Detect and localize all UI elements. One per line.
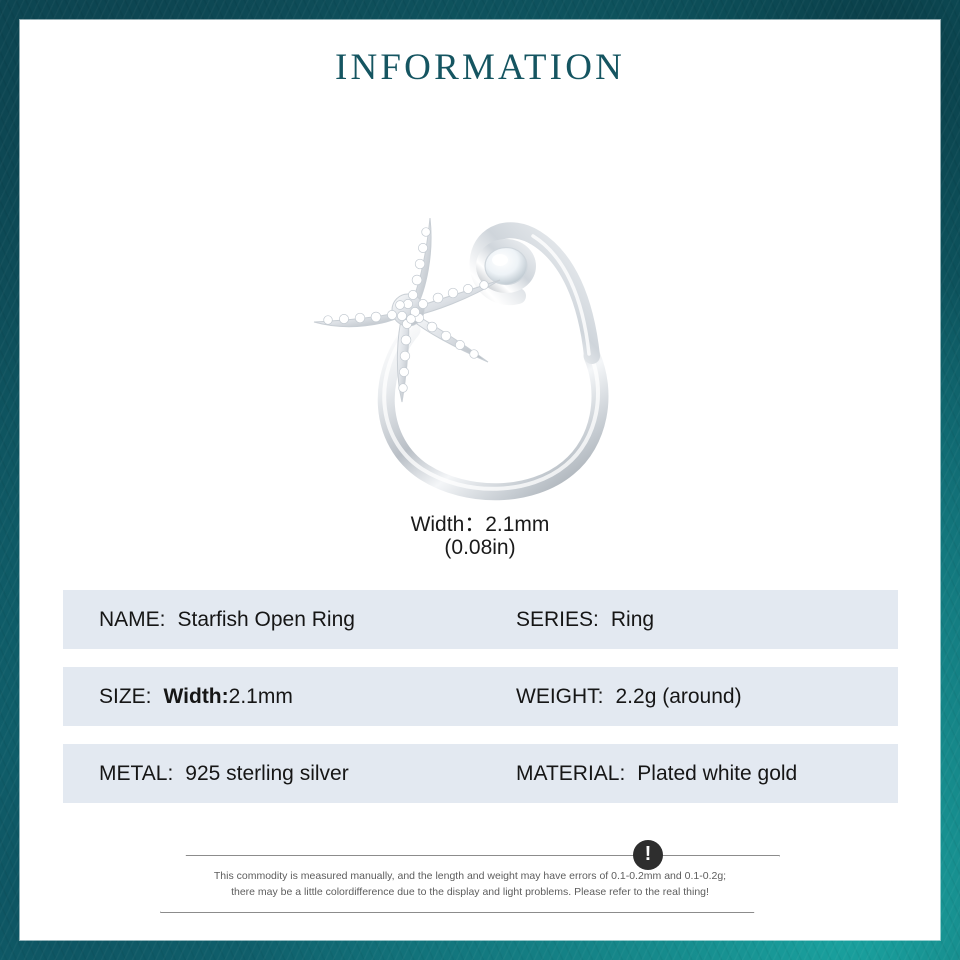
table-row: SIZE: Width:2.1mm WEIGHT: 2.2g (around) (63, 667, 898, 726)
spec-metal: METAL: 925 sterling silver (99, 762, 349, 786)
spec-label: SERIES: (516, 608, 599, 632)
spec-weight: WEIGHT: 2.2g (around) (516, 685, 742, 709)
disclaimer-line-2: there may be a little colordifference du… (231, 884, 709, 900)
spec-size: SIZE: Width:2.1mm (99, 685, 293, 709)
spec-value: 2.2g (around) (616, 685, 742, 709)
spec-series: SERIES: Ring (516, 608, 654, 632)
spec-value: Width:2.1mm (164, 685, 293, 709)
exclamation-icon: ! (633, 840, 663, 870)
white-content-panel: INFORMATION (20, 20, 940, 940)
spec-name: NAME: Starfish Open Ring (99, 608, 355, 632)
spec-label: MATERIAL: (516, 762, 625, 786)
spec-value: Plated white gold (637, 762, 797, 786)
page-title: INFORMATION (20, 46, 940, 89)
spec-value: Starfish Open Ring (178, 608, 355, 632)
exclamation-glyph: ! (645, 844, 652, 864)
specification-table: NAME: Starfish Open Ring SERIES: Ring SI… (63, 590, 898, 821)
spec-label: WEIGHT: (516, 685, 604, 709)
dimension-width: Width：2.1mm (20, 508, 940, 538)
dimension-width-inches: (0.08in) (20, 536, 940, 560)
table-row: METAL: 925 sterling silver MATERIAL: Pla… (63, 744, 898, 803)
spec-value-text: 2.1mm (229, 685, 293, 708)
spec-value-emphasis: Width: (164, 685, 229, 708)
table-row: NAME: Starfish Open Ring SERIES: Ring (63, 590, 898, 649)
product-information-card: INFORMATION (0, 0, 960, 960)
spec-label: SIZE: (99, 685, 152, 709)
spec-material: MATERIAL: Plated white gold (516, 762, 797, 786)
spec-label: NAME: (99, 608, 166, 632)
disclaimer-text: This commodity is measured manually, and… (160, 855, 780, 913)
spec-label: METAL: (99, 762, 173, 786)
disclaimer-line-1: This commodity is measured manually, and… (214, 868, 726, 884)
product-image (300, 180, 660, 510)
spec-value: 925 sterling silver (185, 762, 348, 786)
spec-value: Ring (611, 608, 654, 632)
disclaimer-banner: This commodity is measured manually, and… (160, 855, 780, 913)
